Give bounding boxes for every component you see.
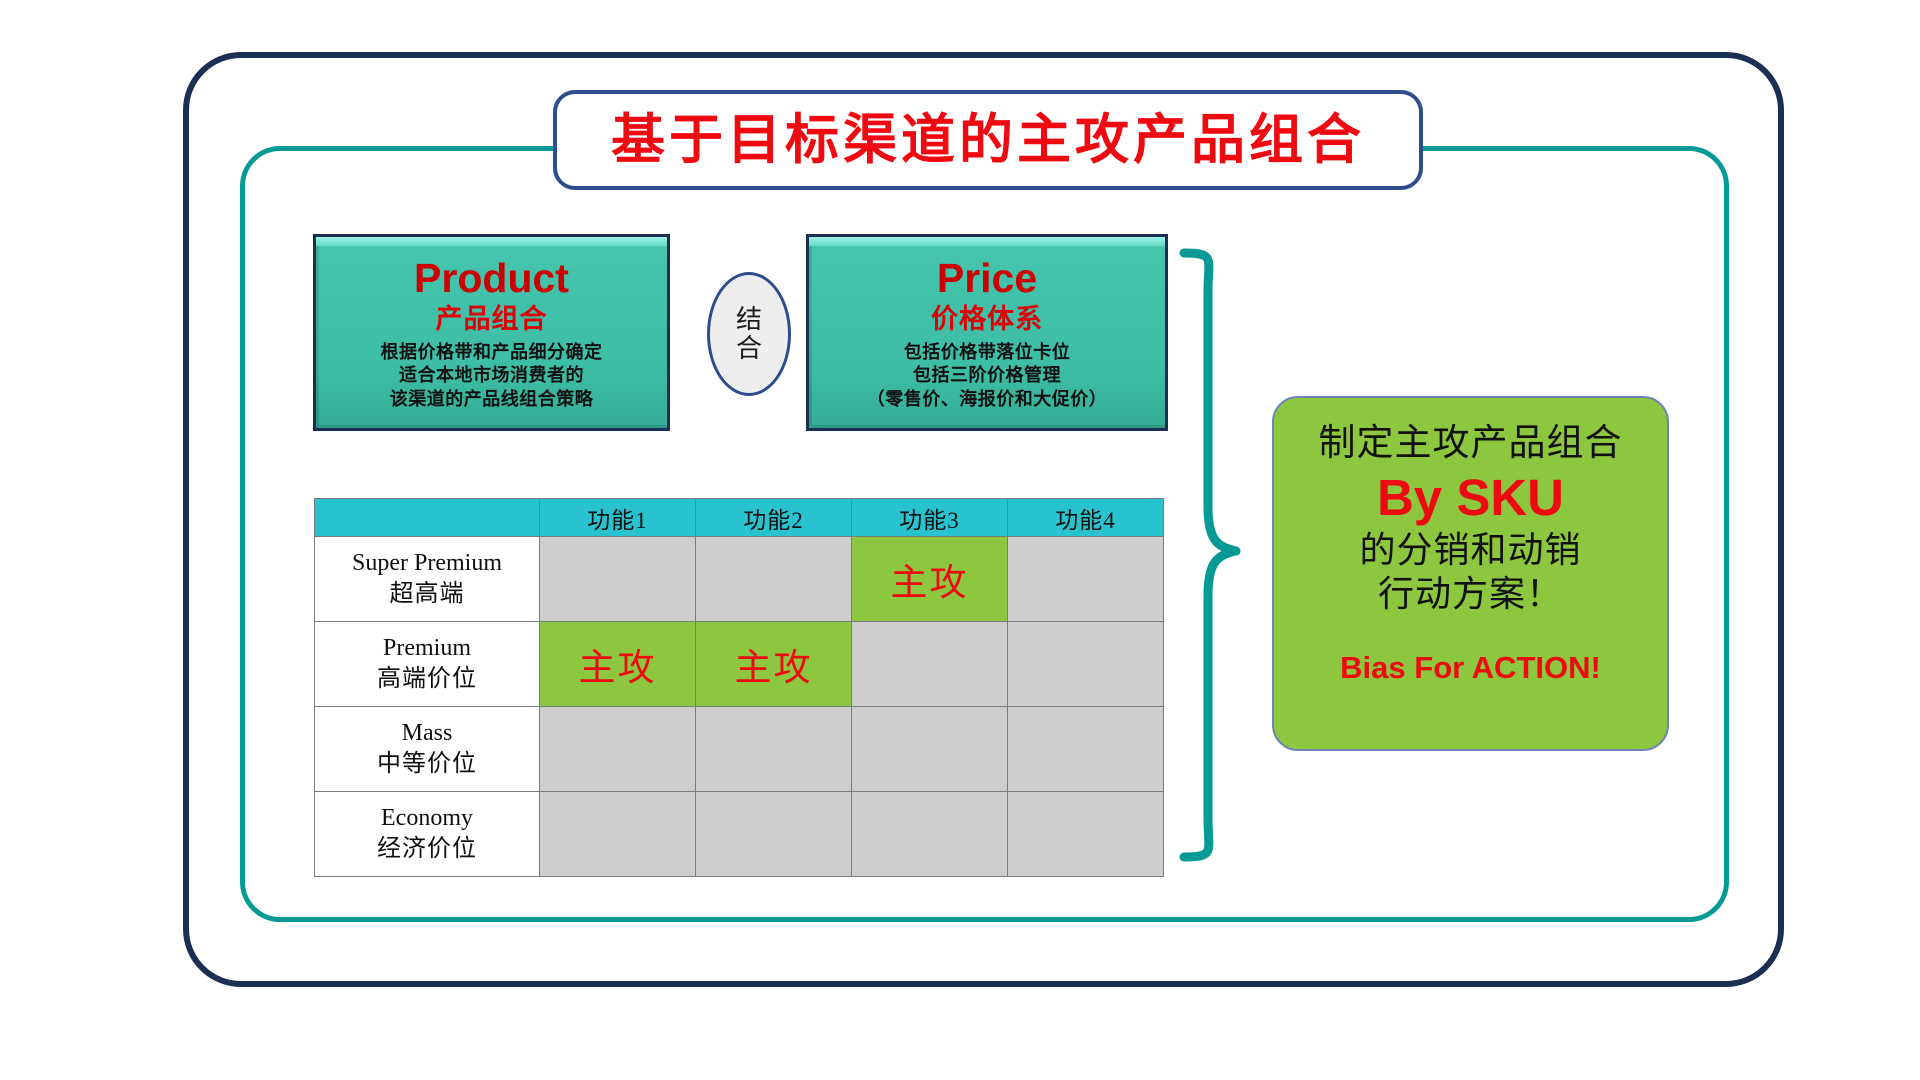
table-row: Super Premium 超高端 主攻 xyxy=(315,537,1164,622)
table-row: Mass 中等价位 xyxy=(315,707,1164,792)
matrix-row-label-super-premium: Super Premium 超高端 xyxy=(315,537,540,622)
row-label-cn: 中等价位 xyxy=(315,749,539,780)
row-label-en: Mass xyxy=(315,718,539,749)
concept-box-product-desc-line-2: 适合本地市场消费者的 xyxy=(381,364,603,388)
matrix-cell-r1c2 xyxy=(696,537,852,622)
row-label-en: Economy xyxy=(315,803,539,834)
matrix-cell-r1c4 xyxy=(1008,537,1164,622)
concept-box-product-desc-line-1: 根据价格带和产品细分确定 xyxy=(381,341,603,365)
concept-box-product-cn-label: 产品组合 xyxy=(436,303,548,335)
row-label-cn: 经济价位 xyxy=(315,834,539,865)
matrix-cell-r3c3 xyxy=(852,707,1008,792)
matrix-corner-cell xyxy=(315,499,540,537)
concept-box-product: Product 产品组合 根据价格带和产品细分确定 适合本地市场消费者的 该渠道… xyxy=(313,234,670,431)
right-curly-brace-icon xyxy=(1174,245,1264,865)
matrix-cell-r2c4 xyxy=(1008,622,1164,707)
page-title: 基于目标渠道的主攻产品组合 xyxy=(611,113,1365,167)
concept-box-price-cn-label: 价格体系 xyxy=(931,303,1043,335)
matrix-cell-r4c2 xyxy=(696,792,852,877)
matrix-cell-r3c2 xyxy=(696,707,852,792)
concept-box-price: Price 价格体系 包括价格带落位卡位 包括三阶价格管理 （零售价、海报价和大… xyxy=(806,234,1168,431)
callout-bias-for-action: Bias For ACTION! xyxy=(1340,650,1601,686)
slide-canvas: 基于目标渠道的主攻产品组合 Product 产品组合 根据价格带和产品细分确定 … xyxy=(0,0,1920,1080)
matrix-cell-r4c3 xyxy=(852,792,1008,877)
row-label-en: Premium xyxy=(315,633,539,664)
connector-label-char-1: 结 xyxy=(736,305,762,334)
concept-box-price-desc-line-2: 包括三阶价格管理 xyxy=(867,364,1108,388)
callout-line-4: 行动方案！ xyxy=(1378,572,1563,616)
concept-box-price-desc-line-1: 包括价格带落位卡位 xyxy=(867,341,1108,365)
concept-box-product-desc-line-3: 该渠道的产品线组合策略 xyxy=(381,388,603,412)
matrix-column-header-4: 功能4 xyxy=(1008,499,1164,537)
matrix-cell-r3c1 xyxy=(540,707,696,792)
matrix-cell-r3c4 xyxy=(1008,707,1164,792)
connector-label-char-2: 合 xyxy=(736,334,762,363)
matrix-cell-r1c3: 主攻 xyxy=(852,537,1008,622)
row-label-cn: 高端价位 xyxy=(315,664,539,695)
concept-box-price-desc-line-3: （零售价、海报价和大促价） xyxy=(867,388,1108,412)
connector-ellipse-join: 结 合 xyxy=(707,272,791,396)
matrix-cell-r2c1: 主攻 xyxy=(540,622,696,707)
matrix-cell-r4c4 xyxy=(1008,792,1164,877)
table-row: Economy 经济价位 xyxy=(315,792,1164,877)
callout-line-3: 的分销和动销 xyxy=(1359,528,1581,572)
matrix-column-header-1: 功能1 xyxy=(540,499,696,537)
callout-by-sku: By SKU xyxy=(1377,467,1564,528)
matrix-row-label-economy: Economy 经济价位 xyxy=(315,792,540,877)
matrix-cell-r2c2: 主攻 xyxy=(696,622,852,707)
matrix-column-header-2: 功能2 xyxy=(696,499,852,537)
callout-action-box: 制定主攻产品组合 By SKU 的分销和动销 行动方案！ Bias For AC… xyxy=(1272,396,1669,751)
table-row: Premium 高端价位 主攻 主攻 xyxy=(315,622,1164,707)
callout-line-1: 制定主攻产品组合 xyxy=(1319,420,1623,465)
row-label-cn: 超高端 xyxy=(315,579,539,610)
matrix-cell-r4c1 xyxy=(540,792,696,877)
connector-label: 结 合 xyxy=(736,305,762,363)
matrix-row-label-premium: Premium 高端价位 xyxy=(315,622,540,707)
slide-title-pill: 基于目标渠道的主攻产品组合 xyxy=(553,90,1423,190)
concept-box-product-description: 根据价格带和产品细分确定 适合本地市场消费者的 该渠道的产品线组合策略 xyxy=(381,341,603,412)
matrix-cell-r1c1 xyxy=(540,537,696,622)
matrix-column-header-3: 功能3 xyxy=(852,499,1008,537)
row-label-en: Super Premium xyxy=(315,548,539,579)
concept-box-product-en-label: Product xyxy=(414,255,569,302)
matrix-body: Super Premium 超高端 主攻 Premium 高端价位 主攻 主攻 xyxy=(315,537,1164,877)
concept-box-price-en-label: Price xyxy=(937,255,1037,302)
concept-box-price-description: 包括价格带落位卡位 包括三阶价格管理 （零售价、海报价和大促价） xyxy=(867,341,1108,412)
matrix-header-row: 功能1 功能2 功能3 功能4 xyxy=(315,499,1164,537)
matrix-row-label-mass: Mass 中等价位 xyxy=(315,707,540,792)
product-price-matrix: 功能1 功能2 功能3 功能4 Super Premium 超高端 主攻 Pre… xyxy=(314,498,1164,877)
matrix-header: 功能1 功能2 功能3 功能4 xyxy=(315,499,1164,537)
matrix-cell-r2c3 xyxy=(852,622,1008,707)
